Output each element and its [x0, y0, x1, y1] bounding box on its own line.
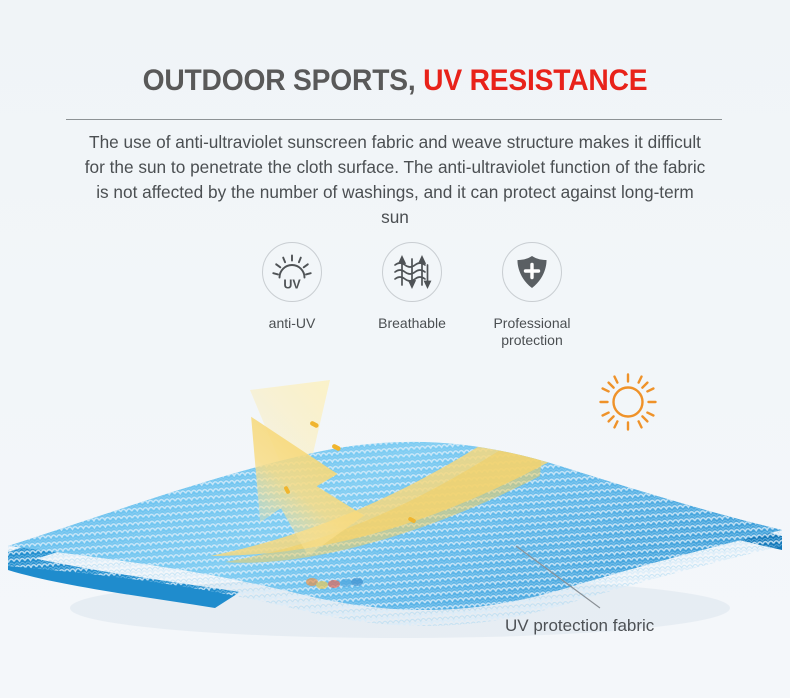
title-divider: [66, 119, 722, 120]
feature-item-anti-uv: UV anti-UV: [232, 242, 352, 332]
breathable-waves-icon-svg: [389, 249, 435, 295]
uv-icon-text: UV: [283, 278, 301, 292]
feature-label-anti-uv: anti-UV: [269, 315, 316, 332]
feature-item-professional-protection: Professional protection: [472, 242, 592, 349]
uv-arc-icon: UV: [262, 242, 322, 302]
shield-plus-icon-svg: [509, 249, 555, 295]
feature-list: UV anti-UV: [232, 242, 592, 349]
page-title: OUTDOOR SPORTS, UV RESISTANCE: [24, 63, 767, 99]
fabric-illustration-svg: [0, 360, 790, 650]
uv-arc-icon-svg: UV: [269, 249, 315, 295]
fabric-caption: UV protection fabric: [505, 616, 654, 636]
description-text: The use of anti-ultraviolet sunscreen fa…: [81, 130, 709, 230]
shield-plus-icon: [502, 242, 562, 302]
page-title-gray: OUTDOOR SPORTS,: [143, 64, 416, 97]
feature-label-breathable: Breathable: [378, 315, 446, 332]
breathable-waves-icon: [382, 242, 442, 302]
feature-label-professional-protection: Professional protection: [493, 315, 570, 349]
page-title-red: UV RESISTANCE: [416, 64, 648, 97]
feature-item-breathable: Breathable: [352, 242, 472, 332]
uv-protection-fabric-illustration: [0, 360, 790, 650]
